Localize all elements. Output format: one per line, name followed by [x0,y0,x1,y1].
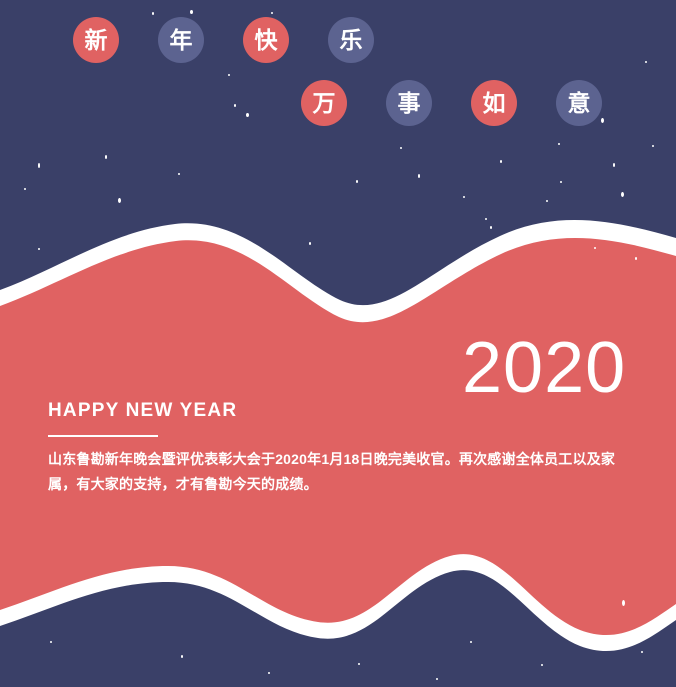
greeting-circle-label: 快 [255,29,278,52]
greeting-circle-label: 如 [483,92,506,115]
greeting-circles-group: 新年快乐万事如意 [0,0,676,140]
headline-underline-rule [48,435,158,437]
greeting-circle-label: 意 [568,92,591,115]
greeting-circle-意: 意 [556,80,602,126]
year-label: 2020 [462,332,632,404]
greeting-circle-label: 新 [85,29,108,52]
headline-text: HAPPY NEW YEAR [48,400,628,423]
greeting-circle-label: 乐 [340,29,363,52]
new-year-poster: 新年快乐万事如意 2020 HAPPY NEW YEAR 山东鲁勘新年晚会暨评优… [0,0,676,687]
headline-block: HAPPY NEW YEAR [48,400,628,437]
greeting-circle-年: 年 [158,17,204,63]
greeting-circle-乐: 乐 [328,17,374,63]
greeting-circle-label: 事 [398,92,421,115]
greeting-circle-事: 事 [386,80,432,126]
greeting-circle-快: 快 [243,17,289,63]
greeting-circle-如: 如 [471,80,517,126]
greeting-circle-label: 年 [170,29,193,52]
body-paragraph: 山东鲁勘新年晚会暨评优表彰大会于2020年1月18日晚完美收官。再次感谢全体员工… [48,447,628,497]
greeting-circle-label: 万 [313,92,336,115]
greeting-circle-新: 新 [73,17,119,63]
greeting-circle-万: 万 [301,80,347,126]
